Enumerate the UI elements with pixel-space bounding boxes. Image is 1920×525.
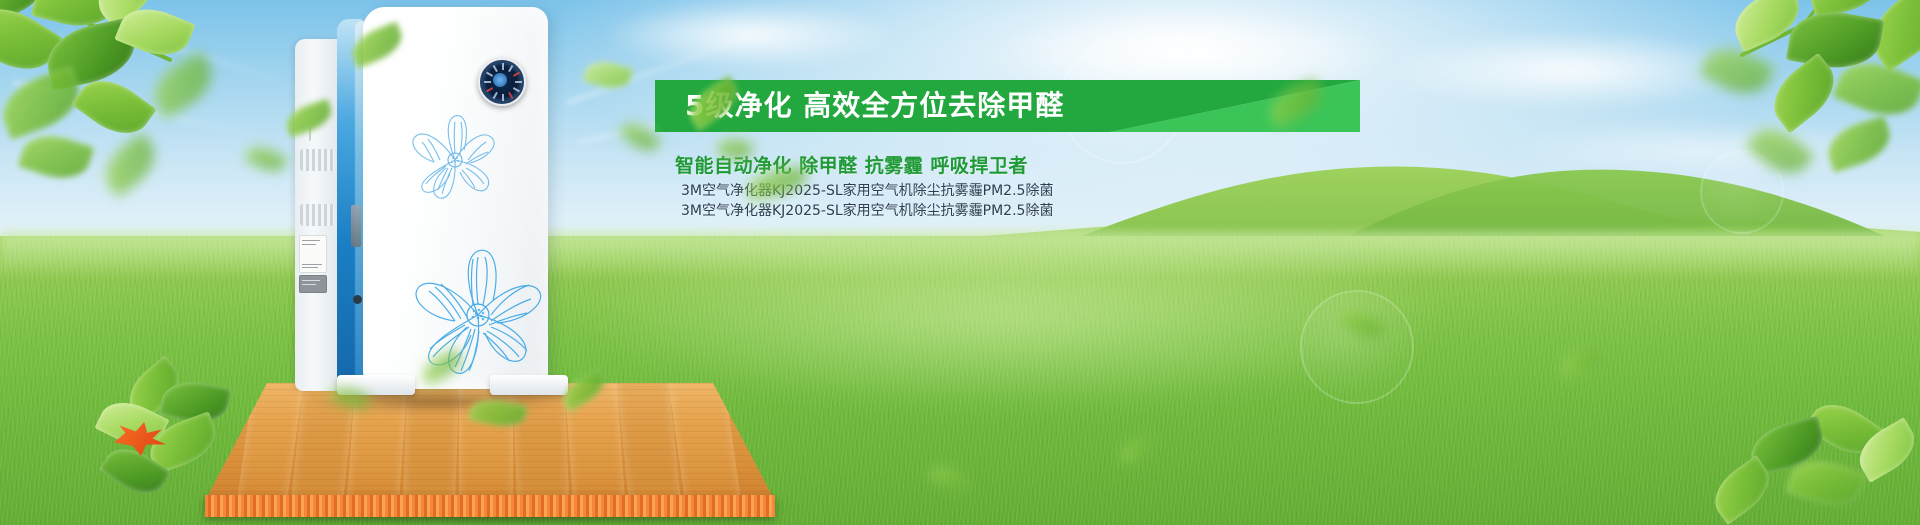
purifier-rear-strip <box>351 205 361 247</box>
dial-tick <box>493 65 498 72</box>
dial-tick <box>508 92 513 99</box>
purifier-vent <box>300 204 334 226</box>
headline-text: 5级净化 高效全方位去除甲醛 <box>685 80 1064 132</box>
dial-tick <box>486 87 493 92</box>
purifier-side-panel <box>295 39 341 391</box>
description-line-2: 3M空气净化器KJ2025-SL家用空气机除尘抗雾霾PM2.5除菌 <box>681 200 1053 220</box>
purifier-warning-label <box>299 235 327 273</box>
dial-tick <box>513 72 520 77</box>
purifier-vent <box>300 149 334 171</box>
purifier-foot-right <box>490 375 568 395</box>
description-line-1: 3M空气净化器KJ2025-SL家用空气机除尘抗雾霾PM2.5除菌 <box>681 180 1053 200</box>
dial-tick <box>508 65 513 72</box>
air-purifier <box>295 5 560 395</box>
deck-front-edge <box>205 495 775 517</box>
purifier-control-dial[interactable] <box>478 58 526 106</box>
product-banner: 5级净化 高效全方位去除甲醛 智能自动净化 除甲醛 抗雾霾 呼吸捍卫者 3M空气… <box>0 0 1920 525</box>
purifier-port <box>353 295 362 304</box>
dial-tick <box>515 81 522 83</box>
dial-center <box>493 73 507 87</box>
dial-tick <box>493 92 498 99</box>
purifier-rating-label <box>299 275 327 293</box>
dial-tick <box>484 81 491 83</box>
dial-tick <box>486 72 493 77</box>
dial-tick <box>502 94 504 101</box>
purifier-front-panel <box>363 7 548 389</box>
dial-tick <box>513 87 520 92</box>
dial-tick <box>502 63 504 70</box>
bokeh-circle <box>1700 150 1784 234</box>
